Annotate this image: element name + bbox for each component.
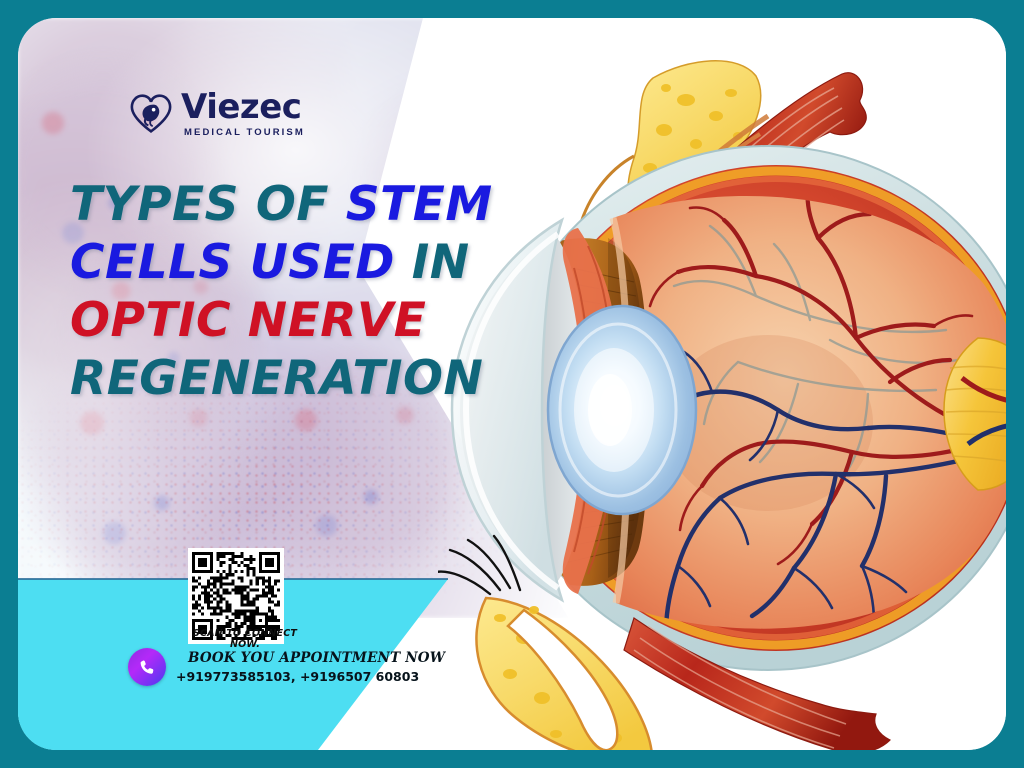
qr-caption: SCAN TO CONNECT NOW. bbox=[186, 628, 304, 650]
headline-seg: REGENERATION bbox=[70, 351, 483, 406]
heart-embryo-icon bbox=[130, 94, 172, 134]
headline-line-3: OPTIC NERVE bbox=[70, 292, 540, 350]
contact-block[interactable]: BOOK YOU APPOINTMENT NOW +919773585103, … bbox=[128, 648, 445, 686]
headline-seg: TYPES OF bbox=[70, 177, 346, 232]
phone-numbers[interactable]: +919773585103, +9196507 60803 bbox=[176, 669, 445, 684]
headline-seg: CELLS USED bbox=[70, 235, 412, 290]
phone-call-icon[interactable] bbox=[128, 648, 166, 686]
headline-seg: STEM bbox=[346, 177, 493, 232]
brand-tagline: MEDICAL TOURISM bbox=[184, 128, 305, 138]
headline-line-2: CELLS USED IN bbox=[70, 234, 540, 292]
poster-card: Viezec MEDICAL TOURISM TYPES OF STEM CEL… bbox=[18, 18, 1006, 750]
page-title: TYPES OF STEM CELLS USED IN OPTIC NERVE … bbox=[70, 176, 540, 408]
brand-logo[interactable]: Viezec MEDICAL TOURISM bbox=[130, 90, 305, 138]
brand-name: Viezec bbox=[181, 90, 305, 124]
headline-line-1: TYPES OF STEM bbox=[70, 176, 540, 234]
headline-line-4: REGENERATION bbox=[70, 350, 540, 408]
cta-text: BOOK YOU APPOINTMENT NOW bbox=[188, 650, 445, 666]
qr-code-bitmap bbox=[192, 552, 280, 640]
headline-seg: IN bbox=[412, 235, 470, 290]
poster-root: Viezec MEDICAL TOURISM TYPES OF STEM CEL… bbox=[0, 0, 1024, 768]
headline-seg: OPTIC NERVE bbox=[70, 293, 426, 348]
